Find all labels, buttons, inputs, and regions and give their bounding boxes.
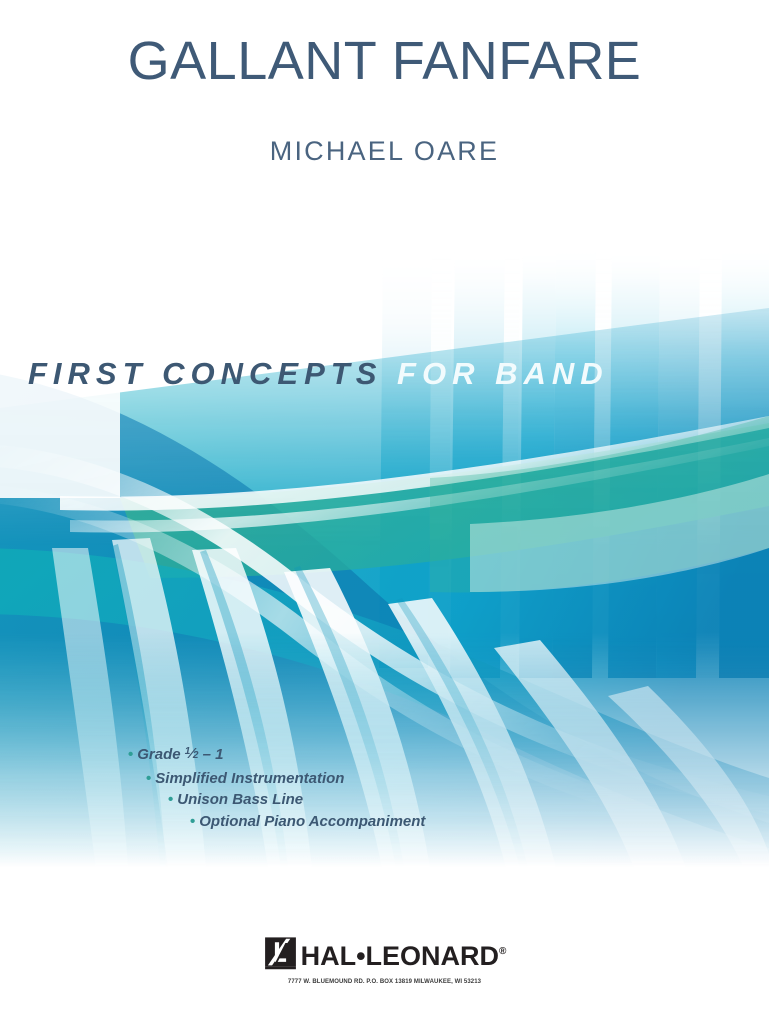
feature-list: •Grade 1⁄2 – 1 •Simplified Instrumentati… — [0, 742, 769, 832]
page-title: GALLANT FANFARE — [0, 0, 769, 90]
publisher-wordmark: HAL•LEONARD® — [301, 937, 507, 971]
title-block: GALLANT FANFARE MICHAEL OARE — [0, 0, 769, 167]
grade-fraction: 1⁄2 — [185, 741, 199, 767]
sheet-music-cover: GALLANT FANFARE MICHAEL OARE — [0, 0, 769, 1024]
publisher-address: 7777 W. BLUEMOUND RD. P.O. BOX 13819 MIL… — [0, 979, 769, 985]
bullet-icon: • — [168, 791, 177, 808]
fraction-denominator: 2 — [193, 750, 199, 761]
list-item: •Grade 1⁄2 – 1 — [128, 742, 769, 768]
list-item: •Optional Piano Accompaniment — [190, 811, 769, 833]
composer-name: MICHAEL OARE — [0, 90, 769, 167]
publisher-logo: HAL•LEONARD® — [263, 936, 507, 971]
feature-label: Grade — [137, 746, 185, 763]
publisher-block: HAL•LEONARD® 7777 W. BLUEMOUND RD. P.O. … — [0, 936, 769, 985]
fraction-numerator: 1 — [185, 746, 191, 757]
registered-mark: ® — [499, 946, 506, 957]
feature-label: Unison Bass Line — [177, 791, 303, 808]
bullet-icon: • — [128, 746, 137, 763]
publisher-name: HAL•LEONARD — [301, 941, 499, 971]
list-item: •Unison Bass Line — [168, 789, 769, 811]
hal-leonard-logo-icon — [263, 936, 298, 971]
bullet-icon: • — [190, 813, 199, 830]
bullet-icon: • — [146, 770, 155, 787]
feature-label: Optional Piano Accompaniment — [199, 813, 425, 830]
feature-suffix: – 1 — [198, 746, 223, 763]
feature-label: Simplified Instrumentation — [155, 770, 344, 787]
list-item: •Simplified Instrumentation — [146, 768, 769, 790]
